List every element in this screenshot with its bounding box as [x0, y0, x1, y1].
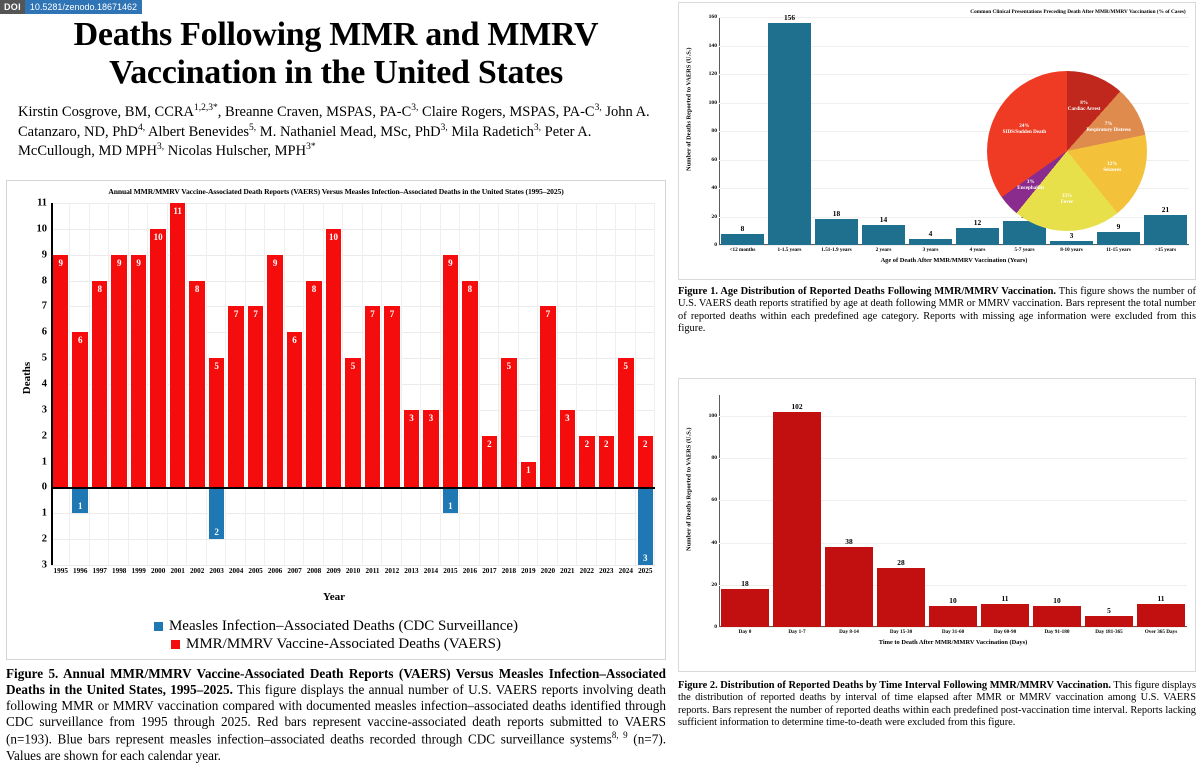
legend-label: Measles Infection–Associated Deaths (CDC… [169, 618, 518, 635]
bar-value-label: 8 [92, 284, 107, 294]
bar-cell[interactable]: 21 [1142, 17, 1189, 245]
bar-cell[interactable]: 18 [813, 17, 860, 245]
x-tick-label: Day 60-90 [979, 629, 1031, 635]
zero-axis-line [51, 487, 655, 489]
bar-cell[interactable]: 5 [499, 203, 518, 565]
y-tick-label: 8 [42, 275, 47, 286]
figure-5-panel: Annual MMR/MMRV Vaccine-Associated Death… [6, 180, 666, 660]
data-bar[interactable]: 3 [1050, 241, 1093, 245]
bar-value-label: 28 [877, 558, 925, 567]
bar-cell[interactable]: 7 [226, 203, 245, 565]
bar-cell[interactable]: 7 [538, 203, 557, 565]
bar-cell[interactable]: 2 [480, 203, 499, 565]
x-tick-label: 2015 [441, 567, 460, 585]
bar-cell[interactable]: 9 [51, 203, 70, 565]
vaers-bar[interactable]: 8 [305, 281, 322, 488]
bar-cell[interactable]: 2 [577, 203, 596, 565]
bar-cell[interactable]: 9 [109, 203, 128, 565]
x-tick-label: 2002 [187, 567, 206, 585]
vaers-bar[interactable]: 7 [383, 306, 400, 487]
bar-value-label: 7 [540, 309, 555, 319]
bar-value-label: 12 [956, 218, 999, 227]
x-tick-label: 1.51-1.9 years [813, 247, 860, 253]
bar-value-label: 9 [131, 258, 146, 268]
bar-cell[interactable]: 11 [1135, 395, 1187, 627]
bar-value-label: 7 [248, 309, 263, 319]
pie-slice-label: 8%Cardiac Arrest [1068, 100, 1101, 112]
bar-cell[interactable]: 52 [207, 203, 226, 565]
y-tick-label: 4 [42, 379, 47, 390]
x-tick-label: 3 years [907, 247, 954, 253]
x-tick-label: 8-10 years [1048, 247, 1095, 253]
figure-1-x-axis-label: Age of Death After MMR/MMRV Vaccination … [719, 257, 1189, 264]
x-tick-label: 2025 [636, 567, 655, 585]
bar-value-label: 11 [1137, 594, 1185, 603]
vaers-bar[interactable]: 3 [422, 410, 439, 488]
data-bar[interactable]: 11 [1137, 604, 1185, 627]
data-bar[interactable]: 18 [815, 219, 858, 245]
figure-2-panel: Number of Deaths Reported to VAERS (U.S.… [678, 378, 1196, 672]
bar-cell[interactable]: 10 [927, 395, 979, 627]
page-title: Deaths Following MMR and MMRV Vaccinatio… [20, 16, 652, 92]
x-tick-label: 1999 [129, 567, 148, 585]
x-tick-label: 2012 [382, 567, 401, 585]
bar-cell[interactable]: 5 [1083, 395, 1135, 627]
x-tick-label: 2014 [421, 567, 440, 585]
pie-slice-name: SIDS/Sudden Death [1003, 129, 1046, 135]
y-tick-label: 3 [42, 560, 47, 571]
vaers-bar[interactable]: 9 [266, 255, 283, 488]
figure-5-legend: Measles Infection–Associated Deaths (CDC… [7, 618, 665, 653]
bar-cell[interactable]: 102 [771, 395, 823, 627]
y-tick-label: 2 [42, 534, 47, 545]
figure-5-bar-group: 96189910118527796810577339182517322523 [51, 203, 655, 565]
y-tick-label: 10 [37, 223, 48, 234]
vaers-bar[interactable]: 6 [286, 332, 303, 487]
x-tick-label: 2020 [538, 567, 557, 585]
vaers-bar[interactable]: 5 [208, 358, 225, 487]
bar-cell[interactable]: 28 [875, 395, 927, 627]
x-tick-label: 2023 [597, 567, 616, 585]
vaers-bar[interactable]: 9 [442, 255, 459, 488]
bar-cell[interactable]: 6 [285, 203, 304, 565]
pie-slice-name: Cardiac Arrest [1068, 106, 1101, 112]
bar-value-label: 3 [1050, 231, 1093, 240]
bar-value-label: 9 [1097, 222, 1140, 231]
data-bar[interactable]: 14 [862, 225, 905, 245]
bar-value-label: 8 [721, 224, 764, 233]
x-tick-label: 1995 [51, 567, 70, 585]
bar-cell[interactable]: 18 [719, 395, 771, 627]
x-tick-label: 2001 [168, 567, 187, 585]
y-tick-label: 3 [42, 404, 47, 415]
x-tick-label: 2000 [148, 567, 167, 585]
bar-cell[interactable]: 8 [187, 203, 206, 565]
gridline [719, 245, 1189, 246]
bar-value-label: 9 [267, 258, 282, 268]
figure-5-x-ticks: 1995199619971998199920002001200220032004… [51, 567, 655, 585]
legend-label: MMR/MMRV Vaccine-Associated Deaths (VAER… [186, 636, 501, 653]
bar-cell[interactable]: 7 [382, 203, 401, 565]
x-tick-label: 2003 [207, 567, 226, 585]
vaers-bar[interactable]: 2 [578, 436, 595, 488]
vaers-bar[interactable]: 11 [169, 203, 186, 487]
bar-cell[interactable]: 14 [860, 17, 907, 245]
x-tick-label: Day 31-60 [927, 629, 979, 635]
legend-swatch-icon [171, 640, 180, 649]
y-tick-label: 1 [42, 508, 47, 519]
pie-slice-label: 3%Encephalitis [1017, 179, 1044, 191]
vaers-bar[interactable]: 8 [461, 281, 478, 488]
bar-cell[interactable]: 11 [979, 395, 1031, 627]
bar-cell[interactable]: 91 [441, 203, 460, 565]
bar-value-label: 5 [1085, 606, 1133, 615]
measles-bar[interactable]: 1 [71, 487, 88, 513]
pie-chart [987, 71, 1147, 231]
bar-value-label: 5 [501, 361, 516, 371]
figure-1-x-ticks: <12 months1-1.5 years1.51-1.9 years2 yea… [719, 247, 1189, 253]
figure-2-x-axis-label: Time to Death After MMR/MMRV Vaccination… [719, 639, 1187, 646]
x-tick-label: 2010 [343, 567, 362, 585]
pie-slice-label: 15%Fever [1061, 193, 1073, 205]
x-tick-label: 1996 [70, 567, 89, 585]
bar-value-label: 9 [53, 258, 68, 268]
vaers-bar[interactable]: 9 [110, 255, 127, 488]
bar-cell[interactable]: 3 [402, 203, 421, 565]
bar-cell[interactable]: 7 [363, 203, 382, 565]
figure-2-caption: Figure 2. Distribution of Reported Death… [678, 680, 1196, 730]
x-tick-label: >15 years [1142, 247, 1189, 253]
bar-value-label: 8 [306, 284, 321, 294]
y-tick-label: 40 [711, 185, 717, 191]
bar-cell[interactable]: 7 [246, 203, 265, 565]
doi-label: DOI [0, 0, 25, 14]
y-tick-label: 6 [42, 327, 47, 338]
y-tick-label: 2 [42, 430, 47, 441]
x-tick-label: 2009 [324, 567, 343, 585]
data-bar[interactable]: 9 [1097, 232, 1140, 245]
bar-cell[interactable]: 5 [343, 203, 362, 565]
y-tick-label: 5 [42, 353, 47, 364]
data-bar[interactable]: 4 [909, 239, 952, 245]
vaers-bar[interactable]: 6 [71, 332, 88, 487]
gridline [719, 627, 1187, 628]
pie-slice-name: Encephalitis [1017, 185, 1044, 191]
vaers-bar[interactable]: 3 [403, 410, 420, 488]
data-bar[interactable]: 10 [929, 606, 977, 627]
vertical-gridline [654, 203, 655, 565]
figure-2-caption-bold: Figure 2. Distribution of Reported Death… [678, 680, 1111, 691]
x-tick-label: Over 365 Days [1135, 629, 1187, 635]
bar-value-label: 10 [150, 232, 165, 242]
right-column: Number of Deaths Reported to VAERS (U.S.… [672, 0, 1200, 768]
x-tick-label: 2006 [265, 567, 284, 585]
data-bar[interactable]: 102 [773, 412, 821, 627]
bar-cell[interactable]: 156 [766, 17, 813, 245]
paper-page: DOI 10.5281/zenodo.18671462 Deaths Follo… [0, 0, 1200, 768]
bar-cell[interactable]: 10 [1031, 395, 1083, 627]
bar-value-label: 9 [111, 258, 126, 268]
y-tick-label: 80 [711, 455, 717, 461]
bar-value-label: 9 [443, 258, 458, 268]
bar-value-label: 10 [929, 596, 977, 605]
vaers-bar[interactable]: 3 [559, 410, 576, 488]
vaers-bar[interactable]: 9 [52, 255, 69, 488]
vaers-bar[interactable]: 7 [247, 306, 264, 487]
y-tick-label: 20 [711, 582, 717, 588]
legend-swatch-icon [154, 622, 163, 631]
data-bar[interactable]: 28 [877, 568, 925, 627]
bar-value-label: 21 [1144, 205, 1187, 214]
doi-value[interactable]: 10.5281/zenodo.18671462 [25, 0, 142, 14]
x-tick-label: 5-7 years [1001, 247, 1048, 253]
bar-cell[interactable]: 4 [907, 17, 954, 245]
vaers-bar[interactable]: 8 [188, 281, 205, 488]
bar-value-label: 4 [909, 229, 952, 238]
data-bar[interactable]: 8 [721, 234, 764, 245]
bar-value-label: 7 [228, 309, 243, 319]
y-tick-label: 60 [711, 497, 717, 503]
bar-cell[interactable]: 8 [90, 203, 109, 565]
data-bar[interactable]: 156 [768, 23, 811, 245]
figure-5-y-ticks: 11109876543210123 [7, 199, 51, 589]
y-tick-label: 140 [709, 43, 717, 49]
legend-item[interactable]: MMR/MMRV Vaccine-Associated Deaths (VAER… [171, 636, 501, 653]
vaers-bar[interactable]: 9 [130, 255, 147, 488]
vaers-bar[interactable]: 5 [344, 358, 361, 487]
x-tick-label: 2007 [285, 567, 304, 585]
measles-bar[interactable]: 3 [637, 487, 654, 565]
bar-value-label: 5 [618, 361, 633, 371]
x-tick-label: Day 15-30 [875, 629, 927, 635]
bar-cell[interactable]: 9 [129, 203, 148, 565]
bar-value-label: 7 [365, 309, 380, 319]
bar-cell[interactable]: 2 [597, 203, 616, 565]
y-tick-label: 120 [709, 71, 717, 77]
bar-value-label: 11 [170, 206, 185, 216]
doi-badge[interactable]: DOI 10.5281/zenodo.18671462 [0, 0, 142, 14]
x-tick-label: Day 181-365 [1083, 629, 1135, 635]
pie-slice-name: Respiratory Distress [1086, 127, 1130, 133]
vaers-bar[interactable]: 8 [91, 281, 108, 488]
x-tick-label: 2004 [226, 567, 245, 585]
bar-value-label: 18 [815, 209, 858, 218]
y-tick-label: 60 [711, 157, 717, 163]
bar-value-label: 18 [721, 579, 769, 588]
bar-value-label: 1 [72, 501, 87, 511]
bar-cell[interactable]: 3 [558, 203, 577, 565]
x-tick-label: Day 91-180 [1031, 629, 1083, 635]
bar-value-label: 3 [638, 553, 653, 563]
bar-cell[interactable]: 10 [324, 203, 343, 565]
x-tick-label: 4 years [954, 247, 1001, 253]
gridline [51, 565, 655, 566]
bar-cell[interactable]: 8 [719, 17, 766, 245]
x-tick-label: 1998 [109, 567, 128, 585]
figure-1-caption-bold: Figure 1. Age Distribution of Reported D… [678, 286, 1056, 297]
data-bar[interactable]: 10 [1033, 606, 1081, 627]
bar-cell[interactable]: 3 [421, 203, 440, 565]
vaers-bar[interactable]: 2 [637, 436, 654, 488]
x-tick-label: 2024 [616, 567, 635, 585]
x-tick-label: 2017 [480, 567, 499, 585]
figure-5-chart: Deaths 11109876543210123 961899101185277… [7, 199, 661, 589]
bar-value-label: 10 [326, 232, 341, 242]
bar-value-label: 1 [521, 465, 536, 475]
y-tick-label: 100 [709, 100, 717, 106]
vaers-bar[interactable]: 7 [227, 306, 244, 487]
bar-cell[interactable]: 8 [460, 203, 479, 565]
y-tick-label: 0 [42, 482, 47, 493]
bar-value-label: 2 [638, 439, 653, 449]
time-to-death-bar-group: 181023828101110511 [719, 395, 1187, 627]
x-tick-label: Day 1-7 [771, 629, 823, 635]
bar-value-label: 38 [825, 537, 873, 546]
vaers-bar[interactable]: 10 [149, 229, 166, 488]
bar-value-label: 11 [981, 594, 1029, 603]
pie-slice-label: 24%SIDS/Sudden Death [1003, 123, 1046, 135]
bar-value-label: 3 [404, 413, 419, 423]
figure-2-y-axis-label: Number of Deaths Reported to VAERS (U.S.… [686, 471, 693, 551]
bar-value-label: 3 [423, 413, 438, 423]
bar-value-label: 2 [599, 439, 614, 449]
y-tick-label: 160 [709, 14, 717, 20]
y-tick-label: 11 [37, 198, 47, 209]
bar-cell[interactable]: 11 [168, 203, 187, 565]
pie-chart-title: Common Clinical Presentations Preceding … [965, 9, 1191, 15]
author-list: Kirstin Cosgrove, BM, CCRA1,2,3*, Breann… [18, 102, 656, 160]
bar-value-label: 2 [209, 527, 224, 537]
figure-1-caption: Figure 1. Age Distribution of Reported D… [678, 286, 1196, 336]
vaers-bar[interactable]: 2 [481, 436, 498, 488]
x-tick-label: 2018 [499, 567, 518, 585]
pie-slice-name: Seizures [1103, 167, 1121, 173]
vaers-bar[interactable]: 5 [500, 358, 517, 487]
bar-value-label: 7 [384, 309, 399, 319]
bar-value-label: 6 [72, 335, 87, 345]
bar-value-label: 3 [560, 413, 575, 423]
x-tick-label: 11-15 years [1095, 247, 1142, 253]
figure-2-plot-area: 181023828101110511 [719, 395, 1187, 627]
pie-slice-name: Fever [1061, 199, 1073, 205]
bar-value-label: 102 [773, 402, 821, 411]
figure-5-caption: Figure 5. Annual MMR/MMRV Vaccine-Associ… [6, 666, 666, 764]
bar-value-label: 5 [209, 361, 224, 371]
figure-1-panel: Number of Deaths Reported to VAERS (U.S.… [678, 2, 1196, 280]
bar-cell[interactable]: 8 [304, 203, 323, 565]
figure-1-y-axis-label: Number of Deaths Reported to VAERS (U.S.… [686, 91, 693, 171]
pie-slice-label: 12%Seizures [1103, 161, 1121, 173]
bar-cell[interactable]: 10 [148, 203, 167, 565]
figure-2-x-ticks: Day 0Day 1-7Day 8-14Day 15-30Day 31-60Da… [719, 629, 1187, 635]
bar-cell[interactable]: 38 [823, 395, 875, 627]
vaers-bar[interactable]: 7 [364, 306, 381, 487]
x-tick-label: 1-1.5 years [766, 247, 813, 253]
x-tick-label: Day 8-14 [823, 629, 875, 635]
vaers-bar[interactable]: 7 [539, 306, 556, 487]
data-bar[interactable]: 21 [1144, 215, 1187, 245]
figure-5-y-axis [51, 203, 53, 565]
x-tick-label: 1997 [90, 567, 109, 585]
bar-cell[interactable]: 61 [70, 203, 89, 565]
y-tick-label: 80 [711, 128, 717, 134]
left-column: DOI 10.5281/zenodo.18671462 Deaths Follo… [0, 0, 672, 768]
bar-cell[interactable]: 23 [636, 203, 655, 565]
figure-5-x-axis-label: Year [7, 591, 661, 603]
bar-value-label: 6 [287, 335, 302, 345]
data-bar[interactable]: 11 [981, 604, 1029, 627]
x-tick-label: Day 0 [719, 629, 771, 635]
x-tick-label: 2021 [558, 567, 577, 585]
x-tick-label: <12 months [719, 247, 766, 253]
bar-value-label: 8 [189, 284, 204, 294]
y-tick-label: 20 [711, 214, 717, 220]
figure-5-caption-refs: 8, 9 [612, 730, 628, 740]
measles-bar[interactable]: 2 [208, 487, 225, 539]
vaers-bar[interactable]: 1 [520, 462, 537, 488]
y-tick-label: 7 [42, 301, 47, 312]
y-tick-label: 40 [711, 540, 717, 546]
x-tick-label: 2011 [363, 567, 382, 585]
bar-cell[interactable]: 5 [616, 203, 635, 565]
bar-value-label: 10 [1033, 596, 1081, 605]
x-tick-label: 2022 [577, 567, 596, 585]
vaers-bar[interactable]: 5 [617, 358, 634, 487]
measles-bar[interactable]: 1 [442, 487, 459, 513]
bar-value-label: 14 [862, 215, 905, 224]
data-bar[interactable]: 5 [1085, 616, 1133, 627]
legend-item[interactable]: Measles Infection–Associated Deaths (CDC… [154, 618, 518, 635]
bar-cell[interactable]: 9 [265, 203, 284, 565]
bar-cell[interactable]: 1 [519, 203, 538, 565]
vaers-bar[interactable]: 10 [325, 229, 342, 488]
x-tick-label: 2016 [460, 567, 479, 585]
y-tick-label: 100 [709, 413, 717, 419]
figure-5-chart-title: Annual MMR/MMRV Vaccine-Associated Death… [7, 181, 665, 196]
x-tick-label: 2005 [246, 567, 265, 585]
bar-value-label: 8 [462, 284, 477, 294]
bar-value-label: 2 [579, 439, 594, 449]
y-tick-label: 9 [42, 249, 47, 260]
data-bar[interactable]: 38 [825, 547, 873, 627]
bar-value-label: 1 [443, 501, 458, 511]
pie-slice-label: 7%Respiratory Distress [1086, 121, 1130, 133]
bar-value-label: 156 [768, 13, 811, 22]
x-tick-label: 2008 [304, 567, 323, 585]
vaers-bar[interactable]: 2 [598, 436, 615, 488]
x-tick-label: 2 years [860, 247, 907, 253]
y-tick-label: 0 [714, 624, 717, 630]
y-tick-label: 1 [42, 456, 47, 467]
bar-value-label: 2 [482, 439, 497, 449]
x-tick-label: 2019 [519, 567, 538, 585]
bar-value-label: 5 [345, 361, 360, 371]
y-tick-label: 0 [714, 242, 717, 248]
data-bar[interactable]: 18 [721, 589, 769, 627]
figure-5-plot-area: 96189910118527796810577339182517322523 [51, 203, 655, 565]
x-tick-label: 2013 [402, 567, 421, 585]
data-bar[interactable]: 12 [956, 228, 999, 245]
